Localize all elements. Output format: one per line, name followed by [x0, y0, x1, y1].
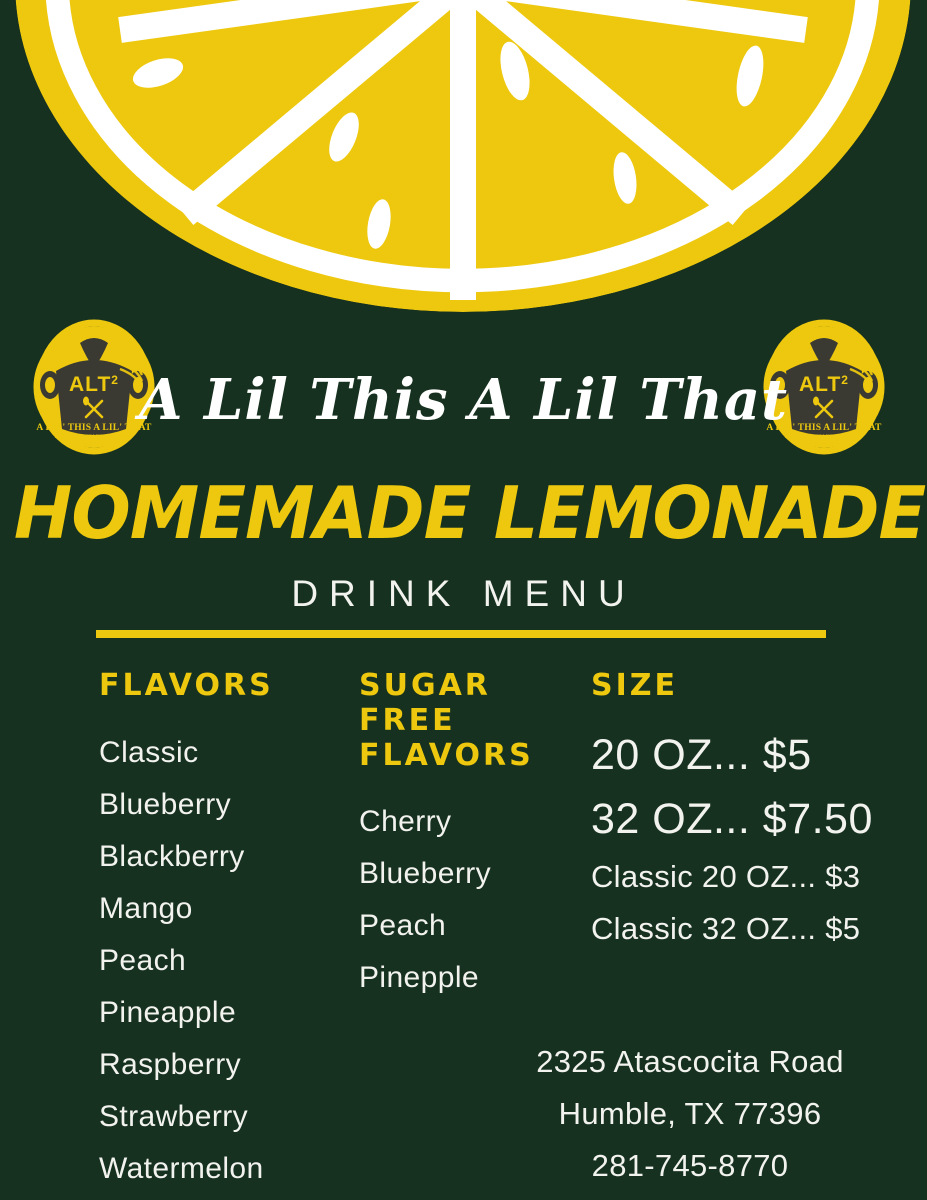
page-subtitle: DRINK MENU [0, 575, 927, 612]
list-item: Classic [99, 727, 264, 779]
list-item: Watermelon [99, 1143, 264, 1195]
sugar-free-list: Cherry Blueberry Peach Pinepple [359, 796, 491, 1004]
sugar-free-heading-line: FLAVORS [359, 739, 559, 774]
lemon-slice-graphic [0, 0, 927, 330]
price-row: Classic 20 OZ... $3 [591, 851, 873, 903]
address-city-state-zip: Humble, TX 77396 [470, 1088, 910, 1140]
sugar-free-heading: SUGAR FREE FLAVORS [359, 669, 559, 773]
price-row: 20 OZ... $5 [591, 723, 873, 787]
list-item: Mango [99, 883, 264, 935]
flavors-heading: FLAVORS [99, 669, 274, 704]
svg-text:BACK TO MOM'S COOKING: BACK TO MOM'S COOKING [785, 434, 864, 440]
lemonade-menu-poster: ALT2 A LIL' THIS A LIL' THAT BACK TO MOM… [0, 0, 927, 1200]
list-item: Peach [359, 900, 491, 952]
lemon-icon [0, 0, 927, 330]
price-row: 32 OZ... $7.50 [591, 787, 873, 851]
list-item: Raspberry [99, 1039, 264, 1091]
page-title: HOMEMADE LEMONADE [14, 477, 913, 549]
list-item: Pineapple [99, 987, 264, 1039]
flavors-list: Classic Blueberry Blackberry Mango Peach… [99, 727, 264, 1195]
address-street: 2325 Atascocita Road [470, 1036, 910, 1088]
sugar-free-heading-line: FREE [359, 704, 559, 739]
contact-info: 2325 Atascocita Road Humble, TX 77396 28… [470, 1036, 910, 1192]
price-row: Classic 32 OZ... $5 [591, 903, 873, 955]
list-item: Blueberry [359, 848, 491, 900]
list-item: Cherry [359, 796, 491, 848]
size-heading: SIZE [591, 669, 678, 704]
list-item: Pinepple [359, 952, 491, 1004]
size-price-list: 20 OZ... $5 32 OZ... $7.50 Classic 20 OZ… [591, 723, 873, 955]
phone-number[interactable]: 281-745-8770 [470, 1140, 910, 1192]
list-item: Strawberry [99, 1091, 264, 1143]
list-item: Blueberry [99, 779, 264, 831]
list-item: Peach [99, 935, 264, 987]
svg-text:BACK TO MOM'S COOKING: BACK TO MOM'S COOKING [55, 434, 134, 440]
divider [96, 630, 826, 638]
sugar-free-heading-line: SUGAR [359, 669, 559, 704]
list-item: Blackberry [99, 831, 264, 883]
brand-script-title: A Lil This A Lil That [0, 372, 927, 428]
